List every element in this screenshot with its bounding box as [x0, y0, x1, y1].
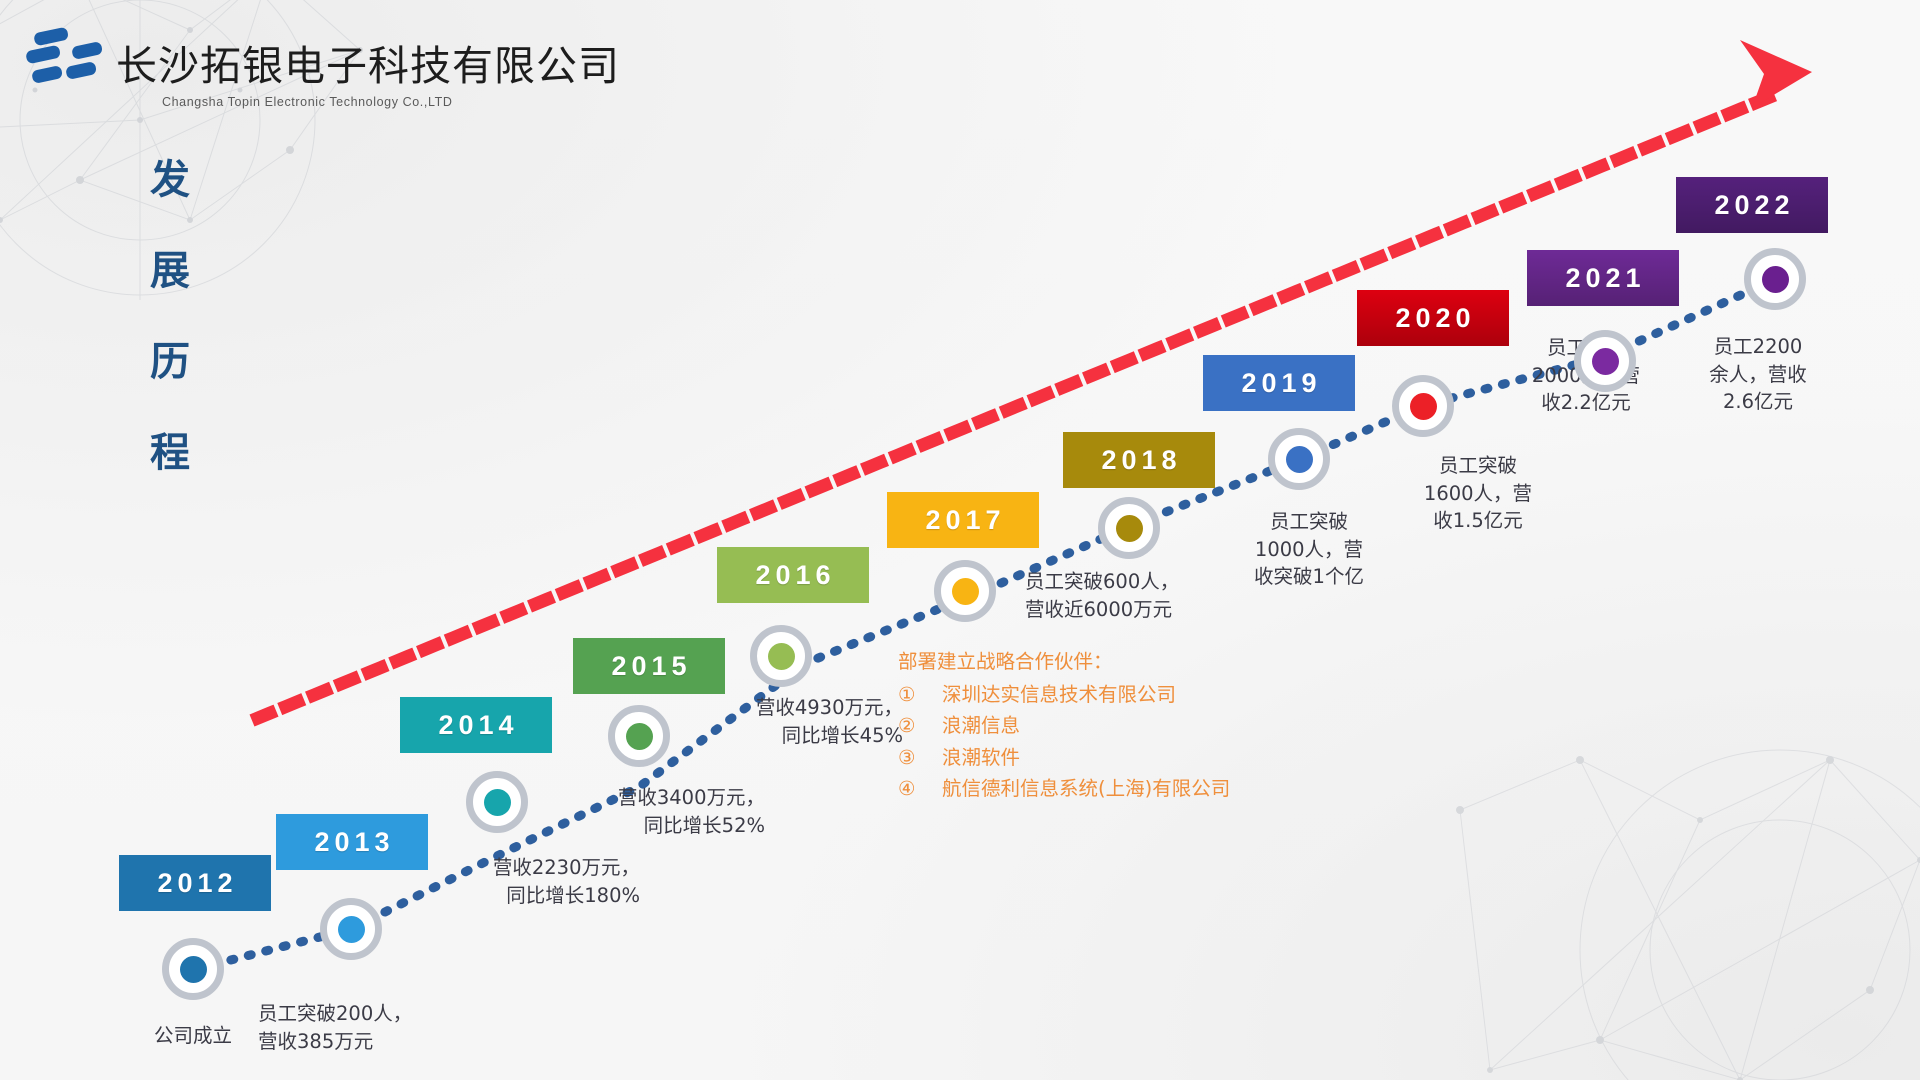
year-chip-2016[interactable]: 2016	[717, 547, 869, 603]
list-item: ③ 浪潮软件	[898, 742, 1230, 774]
timeline-diagram: 2012 公司成立 2013 员工突破200人， 营收385万元 2014 营收…	[0, 0, 1920, 1080]
caption-2015: 营收3400万元， 同比增长52%	[505, 784, 765, 839]
year-chip-2017[interactable]: 2017	[887, 492, 1039, 548]
caption-2013: 员工突破200人， 营收385万元	[258, 1000, 518, 1055]
partners-list: ① 深圳达实信息技术有限公司 ② 浪潮信息 ③ 浪潮软件 ④ 航信德利信息系统(…	[898, 679, 1230, 805]
timeline-node-2018[interactable]	[1098, 497, 1160, 559]
partner-name: 浪潮信息	[942, 710, 1020, 742]
timeline-node-2022[interactable]	[1744, 248, 1806, 310]
caption-2018: 员工突破 1000人，营 收突破1个亿	[1216, 508, 1402, 591]
timeline-node-2019[interactable]	[1268, 428, 1330, 490]
year-chip-2014[interactable]: 2014	[400, 697, 552, 753]
year-chip-2022[interactable]: 2022	[1676, 177, 1828, 233]
partner-name: 航信德利信息系统(上海)有限公司	[942, 773, 1230, 805]
list-item: ② 浪潮信息	[898, 710, 1230, 742]
partners-heading: 部署建立战略合作伙伴：	[898, 646, 1230, 678]
caption-2019: 员工突破 1600人，营 收1.5亿元	[1385, 452, 1571, 535]
year-chip-2020[interactable]: 2020	[1357, 290, 1509, 346]
partner-number: ③	[898, 742, 920, 774]
year-chip-2018[interactable]: 2018	[1063, 432, 1215, 488]
partner-name: 浪潮软件	[942, 742, 1020, 774]
partner-number: ④	[898, 773, 920, 805]
partner-number: ①	[898, 679, 920, 711]
partner-number: ②	[898, 710, 920, 742]
partner-name: 深圳达实信息技术有限公司	[942, 679, 1176, 711]
year-chip-2019[interactable]: 2019	[1203, 355, 1355, 411]
timeline-node-2012[interactable]	[162, 938, 224, 1000]
timeline-node-2017[interactable]	[934, 560, 996, 622]
timeline-node-2021[interactable]	[1574, 330, 1636, 392]
year-chip-2021[interactable]: 2021	[1527, 250, 1679, 306]
strategic-partners-block: 部署建立战略合作伙伴： ① 深圳达实信息技术有限公司 ② 浪潮信息 ③ 浪潮软件…	[898, 646, 1230, 805]
list-item: ④ 航信德利信息系统(上海)有限公司	[898, 773, 1230, 805]
list-item: ① 深圳达实信息技术有限公司	[898, 679, 1230, 711]
year-chip-2012[interactable]: 2012	[119, 855, 271, 911]
caption-2021: 员工2200 余人，营收 2.6亿元	[1665, 333, 1851, 416]
timeline-node-2016[interactable]	[750, 625, 812, 687]
caption-2016: 营收4930万元， 同比增长45%	[643, 694, 903, 749]
timeline-node-2013[interactable]	[320, 898, 382, 960]
timeline-node-2020[interactable]	[1392, 375, 1454, 437]
caption-2014: 营收2230万元， 同比增长180%	[380, 854, 640, 909]
year-chip-2015[interactable]: 2015	[573, 638, 725, 694]
